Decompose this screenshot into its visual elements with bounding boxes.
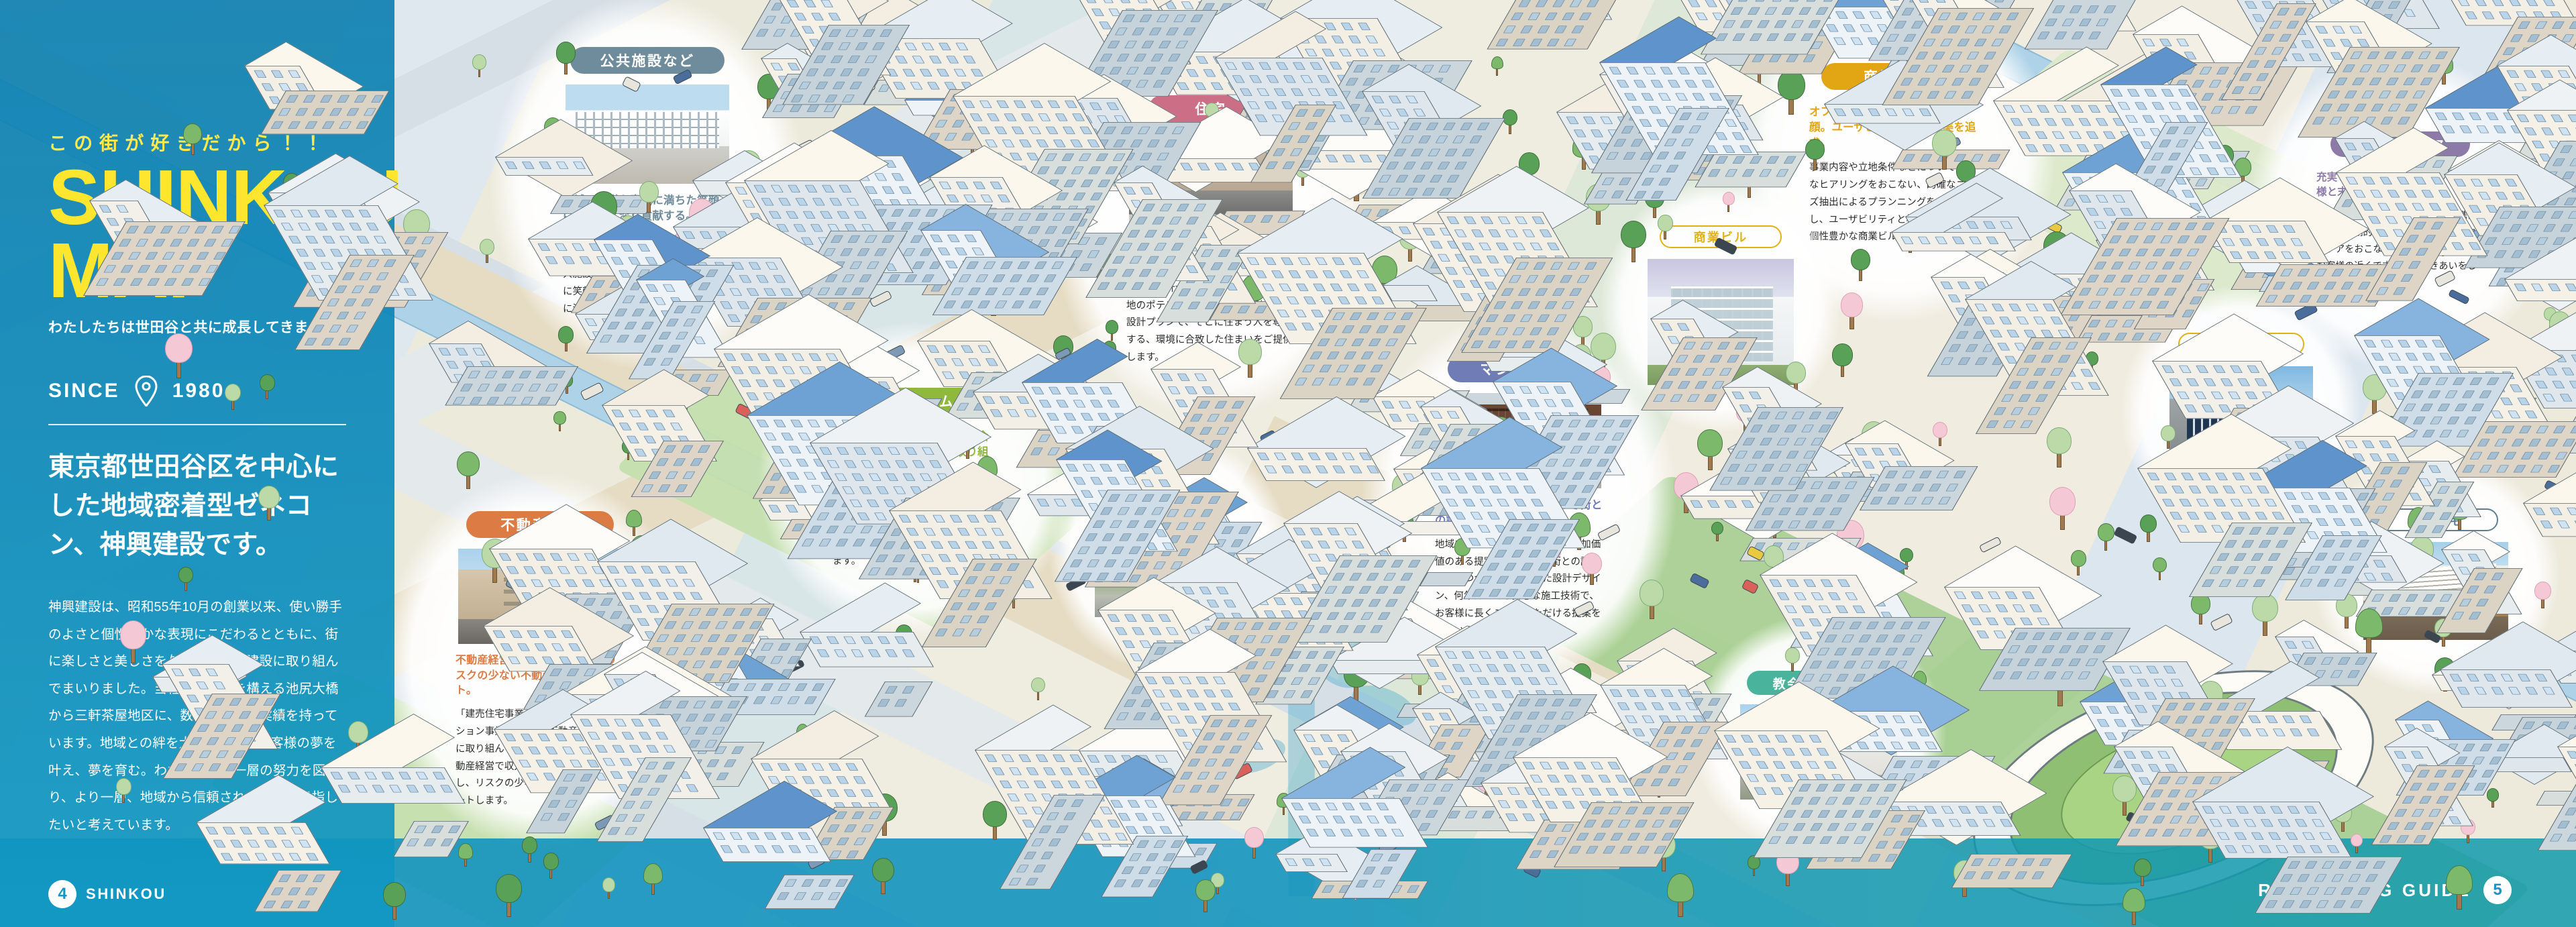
shinkou-map-page: この街が好きだから！！ SHINKOU MAP わたしたちは世田谷と共に成長して… [0,0,2576,927]
since-row: SINCE 1980 [48,376,346,406]
map-pin-icon [135,376,158,406]
hero-footer: 4 SHINKOU [48,880,166,908]
page-number-right: 5 [2483,876,2512,904]
callout-pill-public-facility[interactable]: 公共施設など [570,47,724,74]
company-mark: SHINKOU [86,885,166,903]
page-number-left: 4 [48,880,76,908]
hero-tagline: わたしたちは世田谷と共に成長してきました [48,317,346,337]
since-label: SINCE [48,380,120,402]
since-year: 1980 [172,380,225,402]
hero-divider [48,424,346,425]
hero-headline: 東京都世田谷区を中心にした地域密着型ゼネコン、神興建設です。 [48,448,346,564]
